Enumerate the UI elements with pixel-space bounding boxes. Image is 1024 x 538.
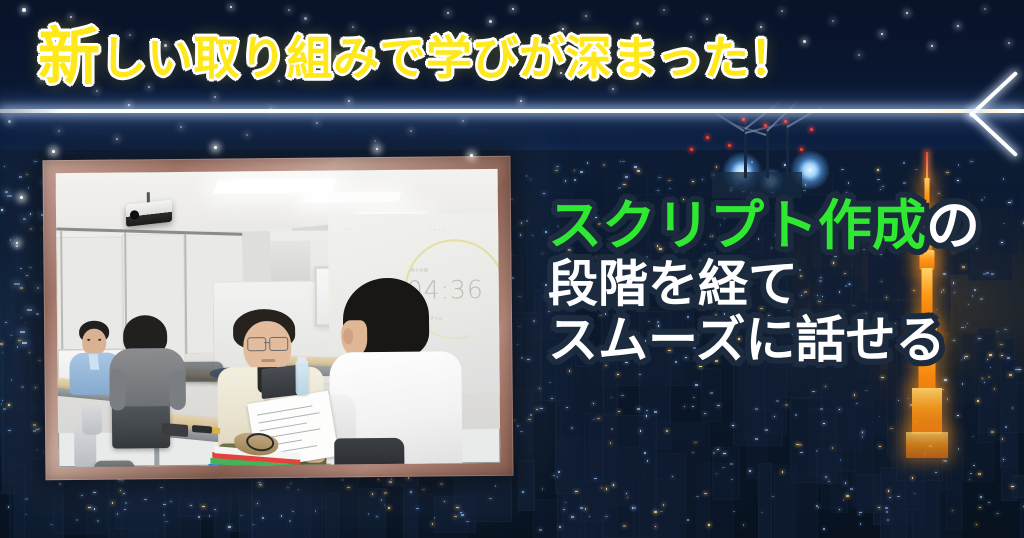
- window-light: [597, 418, 600, 419]
- window-light: [563, 509, 565, 510]
- window-light: [970, 161, 973, 162]
- window-light: [378, 479, 379, 480]
- window-light: [882, 186, 884, 187]
- window-light: [545, 231, 547, 233]
- projector-lens-icon: [130, 210, 139, 219]
- window-light: [408, 477, 409, 479]
- window-light: [571, 516, 574, 518]
- star: [781, 10, 783, 12]
- window-light: [977, 400, 979, 402]
- arrow-shaft: [0, 109, 1024, 113]
- window-light: [542, 253, 543, 254]
- star: [931, 45, 933, 47]
- window-light: [112, 502, 113, 504]
- window-light: [958, 448, 959, 450]
- window-light: [456, 507, 459, 508]
- arrow-head-icon: [968, 64, 1024, 160]
- sparkle: [16, 242, 18, 244]
- building: [639, 437, 656, 538]
- window-light: [755, 438, 758, 440]
- window-light: [785, 404, 788, 406]
- window-light: [646, 410, 648, 411]
- window-light: [694, 442, 697, 443]
- window-light: [647, 460, 648, 462]
- window-light: [444, 501, 445, 502]
- window-light: [532, 235, 533, 236]
- window-light: [765, 429, 768, 431]
- window-light: [16, 245, 18, 247]
- window-light: [526, 175, 527, 177]
- star: [520, 100, 522, 102]
- window-light: [850, 488, 853, 490]
- star: [348, 100, 350, 102]
- window-light: [190, 505, 192, 506]
- window-light: [716, 166, 717, 168]
- window-light: [530, 179, 531, 180]
- window-light: [865, 390, 868, 391]
- window-light: [521, 222, 522, 224]
- window-light: [988, 376, 990, 378]
- window-light: [530, 414, 532, 416]
- star: [316, 122, 318, 124]
- sparkle: [52, 150, 55, 153]
- window-light: [935, 472, 937, 473]
- window-light: [692, 452, 694, 453]
- banner-canvas: 新しい取り組みで学びが深まった！ スクリプト作成の 段階を経て スムーズに話せる: [0, 0, 1024, 538]
- window-light: [655, 526, 656, 527]
- window-light: [289, 520, 291, 522]
- window-light: [611, 428, 613, 430]
- window-light: [495, 485, 496, 487]
- window-light: [422, 489, 425, 490]
- window-light: [20, 268, 22, 269]
- window-light: [623, 184, 626, 185]
- window-light: [879, 416, 880, 417]
- gadget: [162, 423, 188, 437]
- window-light: [980, 496, 982, 498]
- window-light: [888, 490, 889, 492]
- window-light: [587, 162, 588, 164]
- building: [774, 473, 818, 538]
- window-light: [594, 478, 597, 479]
- window-light: [646, 415, 647, 417]
- window-light: [823, 528, 825, 530]
- window-light: [120, 490, 121, 491]
- window-light: [228, 526, 231, 528]
- window-light: [979, 507, 981, 508]
- window-light: [290, 483, 292, 484]
- window-light: [27, 309, 32, 311]
- sparkle: [376, 148, 378, 150]
- gadget-indicator: [212, 427, 220, 434]
- window-light: [257, 503, 258, 504]
- window-light: [520, 431, 523, 432]
- star: [957, 25, 959, 27]
- window-light: [621, 395, 624, 396]
- window-light: [258, 482, 261, 483]
- window-light: [163, 504, 166, 505]
- window-light: [33, 424, 36, 426]
- star: [116, 138, 118, 140]
- window-light: [20, 287, 23, 289]
- window-light: [391, 478, 392, 480]
- window-light: [695, 384, 698, 386]
- window-light: [994, 388, 995, 390]
- window-light: [723, 453, 726, 454]
- star: [1008, 42, 1010, 44]
- window-light: [7, 195, 12, 197]
- window-light: [539, 388, 540, 389]
- window-light: [761, 512, 763, 513]
- window-light: [823, 423, 825, 424]
- window-light: [603, 164, 605, 166]
- window-light: [25, 514, 27, 515]
- window-light: [292, 511, 294, 512]
- window-light: [669, 188, 671, 189]
- window-light: [969, 479, 970, 480]
- star: [410, 130, 412, 132]
- window-light: [26, 174, 28, 175]
- star: [214, 96, 216, 98]
- window-light: [749, 470, 751, 472]
- window-light: [952, 510, 953, 511]
- window-light: [840, 459, 841, 461]
- window-light: [29, 267, 32, 268]
- window-light: [163, 514, 165, 516]
- window-light: [693, 397, 695, 398]
- star: [832, 20, 834, 22]
- window-light: [539, 529, 542, 531]
- window-light: [21, 386, 24, 388]
- window-light: [555, 170, 558, 171]
- window-light: [696, 496, 699, 497]
- window-light: [982, 378, 983, 379]
- window-light: [36, 313, 39, 315]
- window-light: [440, 483, 443, 485]
- window-light: [666, 430, 668, 432]
- window-light: [574, 170, 575, 171]
- seminar-photo: ・・・・ 残り時間 04:36 ・・・ スクリプト作成タイム ・・・・ ・・: [56, 169, 501, 467]
- window-light: [125, 502, 127, 504]
- window-light: [416, 508, 419, 509]
- window-light: [684, 406, 685, 407]
- window-light: [565, 502, 566, 503]
- window-light: [50, 524, 53, 525]
- window-light: [889, 497, 891, 498]
- window-light: [672, 476, 673, 477]
- window-light: [622, 161, 625, 162]
- window-light: [93, 492, 96, 493]
- window-light: [94, 508, 95, 510]
- window-light: [517, 425, 519, 427]
- window-light: [605, 516, 608, 517]
- window-light: [885, 507, 888, 509]
- subheadline-line-1: スクリプト作成の: [548, 198, 1016, 254]
- window-light: [702, 179, 703, 180]
- window-light: [710, 392, 713, 394]
- window-light: [722, 467, 725, 468]
- window-light: [978, 473, 981, 475]
- window-light: [527, 359, 530, 360]
- building: [9, 465, 25, 538]
- window-light: [886, 511, 888, 513]
- window-light: [18, 340, 21, 341]
- window-light: [571, 427, 573, 429]
- wall-recess: [270, 241, 310, 285]
- window-light: [958, 164, 959, 166]
- window-light: [878, 507, 880, 508]
- window-light: [623, 525, 626, 527]
- window-light: [522, 491, 524, 493]
- window-light: [347, 487, 350, 488]
- window-light: [818, 507, 819, 508]
- building: [758, 463, 772, 538]
- window-light: [10, 239, 11, 241]
- star: [58, 130, 60, 132]
- window-light: [660, 511, 663, 512]
- screen-microtext: ・・・・: [428, 227, 446, 233]
- sparkle: [470, 154, 473, 157]
- window-light: [828, 481, 830, 482]
- window-light: [553, 475, 555, 476]
- window-light: [654, 511, 657, 513]
- window-light: [21, 317, 22, 318]
- window-light: [2, 400, 3, 401]
- window-light: [988, 502, 990, 503]
- star: [462, 120, 464, 122]
- window-light: [384, 504, 385, 506]
- window-light: [389, 481, 392, 483]
- window-light: [996, 513, 999, 514]
- window-light: [521, 357, 523, 359]
- window-light: [434, 517, 435, 519]
- shoulder-bag: [334, 438, 404, 467]
- window-light: [209, 515, 210, 517]
- window-light: [281, 515, 282, 517]
- window-light: [117, 513, 118, 515]
- window-light: [43, 452, 44, 453]
- window-light: [657, 190, 659, 191]
- window-light: [825, 386, 826, 387]
- star: [230, 6, 232, 8]
- building: [979, 382, 1024, 433]
- window-light: [14, 283, 20, 285]
- window-light: [611, 397, 612, 398]
- window-light: [820, 408, 823, 410]
- window-light: [716, 473, 717, 474]
- window-light: [37, 449, 38, 451]
- window-light: [511, 199, 513, 200]
- window-light: [516, 344, 519, 345]
- window-light: [454, 516, 457, 517]
- sparkle: [20, 196, 23, 199]
- subheadline-line-3-text: スムーズに話せる: [548, 311, 946, 369]
- star: [22, 8, 26, 12]
- window-light: [29, 352, 30, 353]
- window-light: [1003, 459, 1004, 460]
- star: [246, 134, 248, 136]
- building: [1020, 497, 1024, 538]
- window-light: [668, 180, 671, 181]
- window-light: [618, 187, 621, 189]
- window-light: [692, 406, 694, 407]
- window-light: [606, 488, 607, 490]
- window-light: [38, 360, 41, 361]
- ceiling-light: [213, 178, 337, 193]
- window-light: [36, 161, 38, 162]
- window-light: [991, 431, 994, 433]
- window-light: [859, 512, 862, 513]
- window-light: [859, 514, 860, 515]
- gadget: [192, 425, 212, 434]
- window-light: [782, 471, 783, 473]
- building: [16, 228, 35, 273]
- window-light: [637, 408, 640, 410]
- window-light: [376, 516, 378, 517]
- window-light: [170, 501, 172, 502]
- window-light: [713, 452, 715, 454]
- building: [3, 334, 31, 484]
- window-light: [298, 489, 299, 490]
- window-light: [381, 499, 382, 501]
- window-light: [23, 218, 26, 220]
- window-light: [877, 179, 880, 180]
- chair: [94, 460, 134, 467]
- window-light: [887, 519, 889, 521]
- window-light: [708, 524, 710, 526]
- window-light: [526, 220, 528, 222]
- window-light: [776, 400, 779, 402]
- window-light: [533, 320, 535, 322]
- window-light: [565, 180, 566, 182]
- window-light: [585, 508, 586, 510]
- window-light: [28, 187, 29, 189]
- window-light: [755, 408, 758, 410]
- window-light: [19, 176, 22, 178]
- window-light: [617, 374, 619, 375]
- window-light: [545, 284, 547, 286]
- window-light: [97, 520, 99, 522]
- window-light: [37, 287, 39, 289]
- building: [518, 460, 535, 511]
- window-light: [654, 411, 657, 413]
- window-light: [658, 177, 661, 178]
- star: [612, 88, 614, 90]
- window-light: [877, 169, 879, 171]
- window-light: [612, 485, 614, 486]
- window-light: [856, 403, 858, 404]
- headline-emphasis: 新: [38, 20, 101, 93]
- ceiling-light: [302, 192, 402, 203]
- window-light: [880, 189, 881, 190]
- window-light: [841, 169, 844, 170]
- window-light: [520, 234, 521, 236]
- star: [858, 54, 860, 56]
- window-light: [315, 510, 316, 512]
- window-light: [580, 171, 583, 173]
- window-light: [461, 514, 464, 516]
- window-light: [123, 493, 125, 494]
- window-light: [580, 507, 583, 509]
- window-light: [558, 471, 560, 473]
- window-light: [593, 403, 594, 404]
- window-light: [731, 479, 733, 480]
- window-light: [637, 170, 640, 172]
- window-light: [692, 181, 694, 182]
- window-light: [466, 521, 469, 522]
- window-light: [549, 382, 551, 383]
- window-light: [957, 180, 959, 181]
- window-light: [973, 465, 975, 466]
- window-light: [843, 499, 844, 501]
- window-light: [252, 524, 255, 525]
- window-light: [903, 162, 905, 164]
- chair: [82, 405, 102, 435]
- star: [984, 8, 986, 10]
- window-light: [198, 516, 200, 518]
- window-light: [489, 498, 492, 499]
- window-light: [372, 493, 373, 495]
- window-light: [8, 404, 10, 406]
- window-light: [879, 446, 881, 447]
- star: [512, 8, 514, 10]
- window-light: [240, 515, 243, 516]
- window-light: [30, 228, 32, 230]
- window-light: [800, 452, 803, 453]
- window-light: [625, 176, 628, 178]
- window-light: [202, 506, 205, 507]
- window-light: [124, 509, 126, 510]
- window-light: [4, 166, 5, 167]
- window-light: [36, 429, 39, 430]
- photo-frame-border: ・・・・ 残り時間 04:36 ・・・ スクリプト作成タイム ・・・・ ・・: [42, 156, 513, 480]
- window-light: [663, 504, 664, 506]
- window-light: [10, 335, 13, 336]
- subheadline-block: スクリプト作成の 段階を経て スムーズに話せる: [548, 198, 1016, 370]
- window-light: [717, 405, 720, 406]
- window-light: [618, 411, 620, 412]
- star: [585, 15, 587, 17]
- window-light: [33, 430, 36, 432]
- subheadline-line-2-text: 段階を経て: [548, 255, 798, 313]
- window-light: [962, 383, 963, 385]
- window-light: [368, 513, 369, 515]
- window-light: [518, 296, 521, 297]
- window-light: [733, 511, 735, 512]
- window-light: [1005, 426, 1007, 428]
- window-light: [704, 413, 706, 414]
- window-light: [717, 449, 719, 450]
- window-light: [812, 391, 815, 392]
- subheadline-line-3: スムーズに話せる: [548, 314, 1016, 366]
- window-light: [1003, 178, 1004, 180]
- star: [70, 16, 72, 18]
- star: [706, 18, 708, 20]
- window-light: [774, 416, 775, 417]
- window-light: [639, 374, 641, 375]
- window-light: [644, 452, 646, 454]
- window-light: [839, 509, 840, 510]
- window-light: [825, 476, 827, 478]
- window-light: [839, 409, 840, 410]
- star: [8, 120, 11, 123]
- screen-microtext: ・・: [342, 226, 351, 232]
- window-light: [620, 161, 621, 162]
- building: [359, 488, 386, 538]
- window-light: [601, 487, 602, 489]
- window-light: [640, 430, 641, 432]
- window-light: [1011, 486, 1014, 487]
